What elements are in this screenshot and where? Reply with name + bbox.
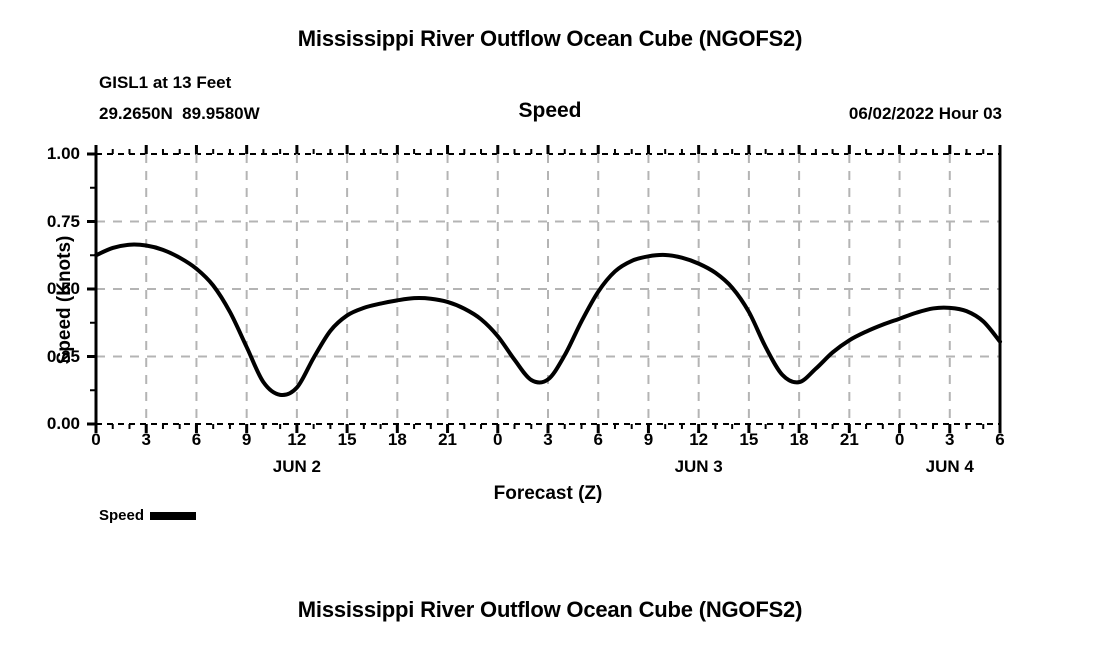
- x-tick-label: 15: [729, 431, 769, 448]
- x-tick-label: 9: [227, 431, 267, 448]
- x-tick-label: 21: [428, 431, 468, 448]
- x-tick-label: 18: [779, 431, 819, 448]
- y-tick-label: 0.50: [20, 280, 80, 297]
- x-tick-label: 6: [176, 431, 216, 448]
- x-tick-label: 0: [478, 431, 518, 448]
- series-line-0: [96, 245, 1000, 395]
- x-tick-label: 0: [76, 431, 116, 448]
- x-tick-label: 15: [327, 431, 367, 448]
- y-tick-label: 1.00: [20, 145, 80, 162]
- series-layer: [96, 245, 1000, 395]
- legend-label: Speed: [99, 508, 144, 523]
- grid-layer: [96, 154, 1000, 424]
- y-tick-label: 0.25: [20, 348, 80, 365]
- x-tick-label: 6: [578, 431, 618, 448]
- chart-page: Mississippi River Outflow Ocean Cube (NG…: [0, 0, 1100, 650]
- legend: Speed: [99, 508, 196, 523]
- y-tick-label: 0.75: [20, 213, 80, 230]
- legend-color-swatch: [150, 512, 196, 520]
- x-day-label: JUN 4: [890, 458, 1010, 475]
- chart-svg: [0, 0, 1100, 650]
- x-tick-label: 9: [628, 431, 668, 448]
- page-title-bottom: Mississippi River Outflow Ocean Cube (NG…: [0, 597, 1100, 623]
- x-tick-label: 3: [126, 431, 166, 448]
- x-tick-label: 3: [930, 431, 970, 448]
- x-tick-label: 6: [980, 431, 1020, 448]
- x-tick-label: 18: [377, 431, 417, 448]
- y-tick-label: 0.00: [20, 415, 80, 432]
- x-tick-label: 0: [880, 431, 920, 448]
- x-tick-label: 3: [528, 431, 568, 448]
- x-day-label: JUN 3: [639, 458, 759, 475]
- x-tick-label: 12: [679, 431, 719, 448]
- x-axis-title: Forecast (Z): [96, 483, 1000, 505]
- plot-area: Speed (Knots) 0.000.250.500.751.00 03691…: [0, 0, 1100, 650]
- x-tick-label: 12: [277, 431, 317, 448]
- x-tick-label: 21: [829, 431, 869, 448]
- x-day-label: JUN 2: [237, 458, 357, 475]
